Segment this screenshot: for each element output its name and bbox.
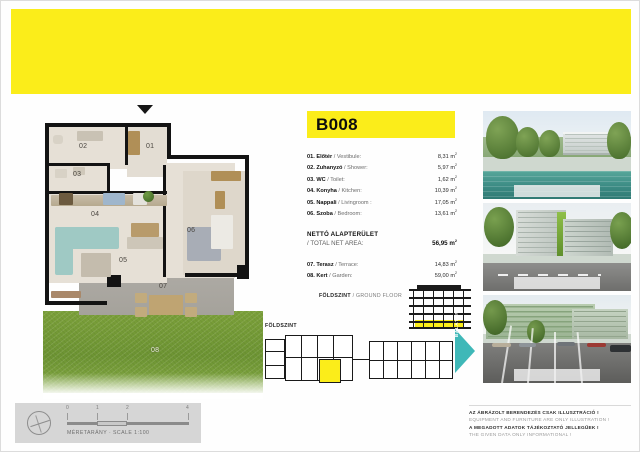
render-building — [563, 132, 613, 155]
direction-label: BALATON — [454, 311, 459, 337]
scale-caption: MÉRETARÁNY · SCALE 1:100 — [67, 430, 149, 436]
extra-name-hu: Terasz — [316, 262, 333, 268]
render-building-corner-view — [483, 203, 631, 291]
scale-seg-3 — [127, 422, 189, 425]
room-name-en-text: Kitchen: — [342, 188, 362, 194]
wall-north-b — [167, 155, 249, 159]
site-plan-diagram — [263, 333, 459, 383]
elevation-floor-line — [409, 321, 471, 323]
wall-north-a — [45, 123, 171, 127]
elevation-floor-line — [409, 313, 471, 315]
room-area: 1,62 — [438, 177, 449, 183]
site-partition — [439, 341, 440, 379]
render-building-block-b — [563, 219, 613, 256]
extra-area: 14,83 — [435, 262, 449, 268]
room-no: 05. — [307, 200, 315, 206]
unit-info-panel: B008 01. Előtér / Vestibule: 8,31 m2 02.… — [307, 111, 467, 281]
room-area: 5,97 — [438, 165, 449, 171]
room-name-en-text: Bedroom: — [338, 211, 362, 217]
site-partition — [285, 357, 353, 358]
room-area: 17,05 — [435, 200, 449, 206]
scale-tick-1 — [97, 413, 98, 420]
extra-no: 07. — [307, 262, 315, 268]
render-tree — [610, 212, 631, 249]
extra-area: 59,00 — [435, 273, 449, 279]
site-highlighted-unit — [319, 359, 341, 383]
site-partition — [397, 341, 398, 379]
scale-tick-0 — [67, 413, 68, 420]
render-car — [519, 343, 537, 347]
furniture-terrace-table — [149, 295, 183, 315]
extra-no: 08. — [307, 273, 315, 279]
sq-sup: 2 — [455, 260, 457, 264]
room-name-hu: Szoba — [316, 211, 332, 217]
furniture-wardrobe — [128, 131, 140, 155]
elevation-column — [443, 289, 444, 329]
wall-int-a — [47, 163, 109, 166]
wall-pier-b — [237, 265, 249, 279]
scale-seg-1 — [67, 422, 97, 425]
room-row: 03. WC / Toilet: 1,62 m2 — [307, 173, 457, 184]
render-car — [610, 345, 631, 352]
site-connector — [353, 359, 369, 360]
room-number-07: 07 — [159, 283, 167, 290]
elevation-floor-line — [409, 297, 471, 299]
furniture-console — [127, 237, 163, 249]
sq-sup: 2 — [455, 239, 457, 243]
room-number-02: 02 — [79, 143, 87, 150]
extra-name-en-text: Terrace: — [338, 262, 358, 268]
furniture-sofa-b — [55, 227, 73, 275]
plan-sheet: 01 02 03 04 05 06 07 08 0 1 2 4 MÉRETARÁ… — [0, 0, 640, 452]
room-name-en-text: Livingroom : — [341, 200, 371, 206]
render-tree — [539, 130, 560, 156]
disclaimer-line-3: A MEGADOTT ADATOK TÁJÉKOZTATÓ JELLEGŰEK … — [469, 424, 631, 431]
render-tree — [607, 122, 631, 159]
room-number-04: 04 — [91, 211, 99, 218]
room-no: 01. — [307, 154, 315, 160]
key-plan: FÖLDSZINT / GROUND FLOOR FÖLDSZIN — [263, 289, 475, 385]
extra-row: 07. Terasz / Terrace: 14,83 m2 — [307, 258, 457, 269]
wall-int-b — [107, 163, 110, 193]
furniture-bed-linen — [211, 215, 233, 249]
site-partition — [411, 341, 412, 379]
wall-south-a — [45, 301, 107, 305]
floor-plan: 01 02 03 04 05 06 07 08 — [15, 105, 270, 395]
elevation-floor-line — [409, 289, 471, 291]
furniture-terrace-chair-1 — [135, 293, 147, 303]
furniture-bedroom-shelf — [211, 171, 241, 181]
extra-area-list: 07. Terasz / Terrace: 14,83 m2 08. Kert … — [307, 258, 457, 281]
room-name-hu: WC — [316, 177, 325, 183]
scale-label-4: 4 — [186, 405, 189, 411]
site-partition — [301, 335, 302, 381]
furniture-cooktop — [59, 193, 73, 205]
floor-plan-drawing: 01 02 03 04 05 06 07 08 — [15, 105, 270, 395]
total-label-hu: NETTÓ ALAPTERÜLET — [307, 231, 457, 238]
scale-label-1: 1 — [96, 405, 99, 411]
room-name-en-text: Vestibule: — [337, 154, 361, 160]
room-schedule-list: 01. Előtér / Vestibule: 8,31 m2 02. Zuha… — [307, 150, 457, 219]
furniture-nightstand — [215, 191, 225, 209]
elevation-column — [463, 289, 464, 329]
site-plan-label: FÖLDSZINT — [265, 323, 297, 329]
room-number-06: 06 — [187, 227, 195, 234]
building-elevation-diagram — [409, 289, 471, 329]
wall-east — [245, 155, 249, 277]
scale-label-2: 2 — [126, 405, 129, 411]
render-rocky-shore — [483, 157, 631, 171]
site-partition — [317, 335, 318, 381]
furniture-terrace-chair-4 — [185, 307, 197, 317]
site-partition — [265, 351, 285, 352]
furniture-bench — [51, 291, 81, 298]
room-row: 01. Előtér / Vestibule: 8,31 m2 — [307, 150, 457, 161]
top-banner — [11, 9, 631, 94]
render-caption-strip — [514, 277, 600, 289]
scale-track: 0 1 2 4 — [67, 422, 189, 425]
sq-sup: 2 — [455, 163, 457, 167]
room-name-hu: Nappali — [316, 200, 336, 206]
room-area: 10,39 — [435, 188, 449, 194]
furniture-terrace-chair-2 — [135, 307, 147, 317]
direction-indicator: BALATON — [455, 329, 477, 373]
sq-sup: 2 — [455, 271, 457, 275]
furniture-wc — [55, 169, 67, 178]
room-area: 8,31 — [438, 154, 449, 160]
elevation-body — [409, 289, 471, 329]
sq-sup: 2 — [455, 175, 457, 179]
disclaimer-line-4: THE GIVEN DATA ONLY INFORMATIONAL ! — [469, 431, 631, 438]
elevation-label-hu: FÖLDSZINT — [319, 293, 351, 299]
sq-sup: 2 — [455, 152, 457, 156]
extra-name-hu: Kert — [316, 273, 327, 279]
furniture-basin — [53, 135, 63, 144]
room-name-hu: Előtér — [316, 154, 332, 160]
room-number-01: 01 — [146, 143, 154, 150]
room-name-en-text: Toilet: — [330, 177, 345, 183]
render-car — [587, 343, 606, 347]
room-row: 06. Szoba / Bedroom: 13,61 m2 — [307, 207, 457, 218]
site-partition — [383, 341, 384, 379]
render-tree — [483, 300, 507, 335]
room-row: 02. Zuhanyzó / Shower: 5,97 m2 — [307, 161, 457, 172]
total-value: 56,95 — [432, 240, 447, 247]
elevation-floor-line — [409, 305, 471, 307]
render-parking-facade-view — [483, 295, 631, 383]
wall-int-e — [163, 165, 166, 277]
room-name-en-text: Shower: — [347, 165, 368, 171]
room-number-05: 05 — [119, 257, 127, 264]
elevation-column — [423, 289, 424, 329]
room-row: 05. Nappali / Livingroom : 17,05 m2 — [307, 196, 457, 207]
garden-fade — [43, 373, 263, 399]
site-partition — [265, 365, 285, 366]
room-name-hu: Zuhanyzó — [316, 165, 342, 171]
render-car — [557, 342, 575, 346]
elevation-column — [413, 289, 414, 329]
compass-icon — [27, 411, 51, 435]
elevation-label-en: / GROUND FLOOR — [353, 293, 402, 299]
disclaimer-line-2: EQUIPMENT AND FURNITURE ARE ONLY ILLUSTR… — [469, 416, 631, 423]
scale-bar: 0 1 2 4 MÉRETARÁNY · SCALE 1:100 — [15, 403, 201, 443]
room-no: 03. — [307, 177, 315, 183]
wall-west — [45, 123, 49, 305]
scale-seg-2 — [97, 421, 127, 426]
room-number-08: 08 — [151, 347, 159, 354]
render-caption-strip — [514, 369, 600, 381]
sq-sup: 2 — [455, 198, 457, 202]
scale-label-0: 0 — [66, 405, 69, 411]
room-area: 13,61 — [435, 211, 449, 217]
room-no: 06. — [307, 211, 315, 217]
furniture-rug — [81, 253, 111, 277]
unit-code-text: B008 — [316, 115, 358, 135]
furniture-dining-table — [131, 223, 159, 237]
render-tree — [484, 207, 514, 247]
furniture-plant — [143, 191, 154, 202]
sq-sup: 2 — [455, 186, 457, 190]
render-tree — [516, 127, 540, 157]
disclaimer-line-1: AZ ÁBRÁZOLT BERENDEZÉS CSAK ILLUSZTRÁCIÓ… — [469, 409, 631, 416]
scale-tick-2 — [127, 413, 128, 420]
site-partition — [425, 341, 426, 379]
extra-row: 08. Kert / Garden: 59,00 m2 — [307, 269, 457, 280]
render-lakeside-view — [483, 111, 631, 199]
room-row: 04. Konyha / Kitchen: 10,39 m2 — [307, 184, 457, 195]
total-label-en: / TOTAL NET AREA: — [307, 240, 363, 247]
entrance-arrow-icon — [137, 105, 153, 114]
elevation-label: FÖLDSZINT / GROUND FLOOR — [319, 293, 402, 299]
sq-sup: 2 — [455, 209, 457, 213]
furniture-sink — [103, 193, 125, 205]
render-facade-secondary — [572, 309, 628, 339]
site-wing-west-end — [265, 339, 285, 379]
render-tree — [486, 116, 519, 158]
wall-vert-a — [167, 123, 171, 159]
disclaimer-block: AZ ÁBRÁZOLT BERENDEZÉS CSAK ILLUSZTRÁCIÓ… — [469, 405, 631, 445]
unit-code-badge: B008 — [307, 111, 455, 138]
extra-name-en-text: Garden: — [332, 273, 352, 279]
elevation-column — [433, 289, 434, 329]
room-no: 04. — [307, 188, 315, 194]
furniture-terrace-chair-3 — [185, 293, 197, 303]
room-name-hu: Konyha — [316, 188, 337, 194]
room-number-03: 03 — [73, 171, 81, 178]
furniture-shower-unit — [77, 131, 103, 141]
scale-tick-4 — [188, 413, 189, 420]
render-car — [492, 343, 511, 347]
total-net-area-block: NETTÓ ALAPTERÜLET / TOTAL NET AREA: 56,9… — [307, 231, 457, 247]
render-caption-strip — [514, 185, 600, 197]
room-no: 02. — [307, 165, 315, 171]
